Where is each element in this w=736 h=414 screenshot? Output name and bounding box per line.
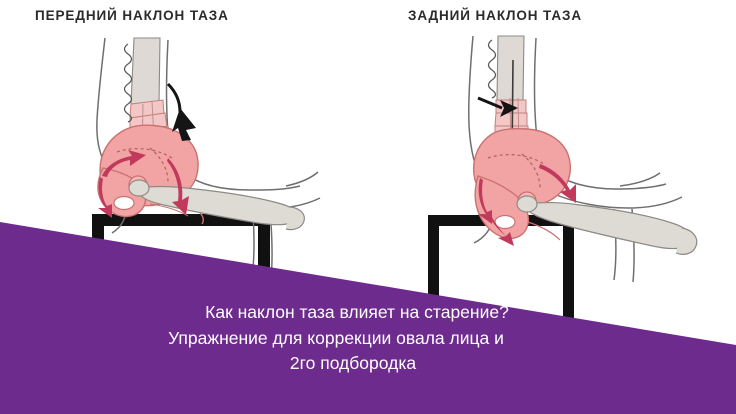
screenshot-canvas: ПЕРЕДНИЙ НАКЛОН ТАЗА ЗАДНИЙ НАКЛОН ТАЗА … [0, 0, 736, 414]
panel-title-posterior: ЗАДНИЙ НАКЛОН ТАЗА [408, 8, 582, 23]
panel-title-anterior: ПЕРЕДНИЙ НАКЛОН ТАЗА [35, 8, 229, 23]
illustration-posterior-pelvic-tilt [0, 0, 736, 414]
